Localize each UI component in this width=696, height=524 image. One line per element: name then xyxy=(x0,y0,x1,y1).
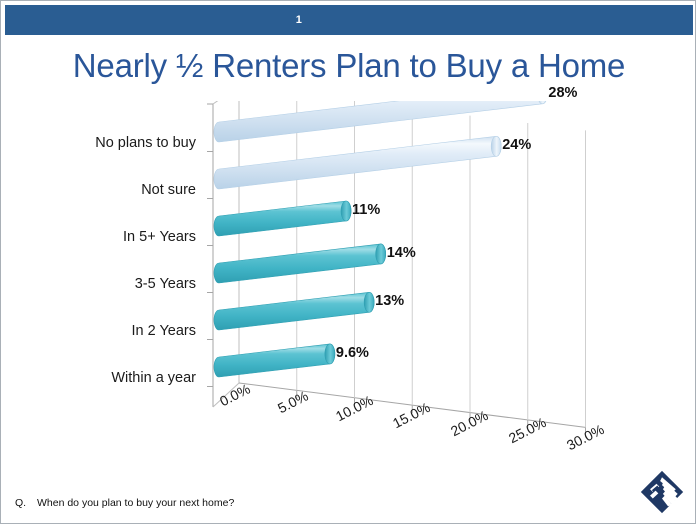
slide-footer: Q. When do you plan to buy your next hom… xyxy=(1,463,696,523)
chart-bar xyxy=(214,344,335,377)
chart-bars xyxy=(214,101,547,377)
page-title: Nearly ½ Renters Plan to Buy a Home xyxy=(1,47,696,85)
chart-bar xyxy=(214,101,547,142)
bar-value-label: 11% xyxy=(352,202,380,218)
company-diamond-logo xyxy=(639,469,685,515)
bar-value-label: 28% xyxy=(548,85,577,101)
bar-value-label: 9.6% xyxy=(336,345,369,361)
bar-chart: No plans to buyNot sureIn 5+ Years3-5 Ye… xyxy=(1,101,696,461)
footnote-question: When do you plan to buy your next home? xyxy=(37,497,234,509)
chart-bar xyxy=(214,201,351,236)
bar-value-label: 14% xyxy=(387,245,416,261)
chart-bar xyxy=(214,244,386,283)
chart-bar xyxy=(214,136,501,189)
page-number: 1 xyxy=(5,5,693,35)
bar-value-label: 13% xyxy=(375,293,404,309)
bar-value-label: 24% xyxy=(502,137,531,153)
chart-bar xyxy=(214,292,374,330)
slide-header-band: 1 xyxy=(5,5,693,35)
slide-canvas: 1 Nearly ½ Renters Plan to Buy a Home No… xyxy=(0,0,696,524)
footnote-marker: Q. xyxy=(15,497,26,509)
